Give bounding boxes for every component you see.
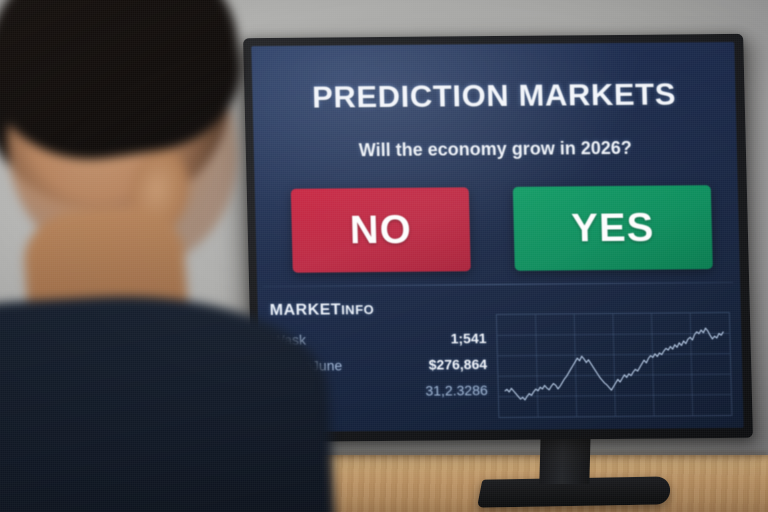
person-silhouette xyxy=(0,0,350,512)
market-info-value: 1;541 xyxy=(450,330,486,346)
vote-button-row: NO YES xyxy=(291,185,713,273)
market-info-value: $276,864 xyxy=(428,356,487,373)
chart-gridlines xyxy=(497,313,732,417)
market-info-value: 31,2.3286 xyxy=(425,382,488,399)
vote-yes-button[interactable]: YES xyxy=(513,185,713,271)
price-history-chart[interactable] xyxy=(496,312,733,418)
photo-scene: PREDICTION MARKETS Will the economy grow… xyxy=(0,0,768,512)
chart-svg xyxy=(497,313,732,417)
